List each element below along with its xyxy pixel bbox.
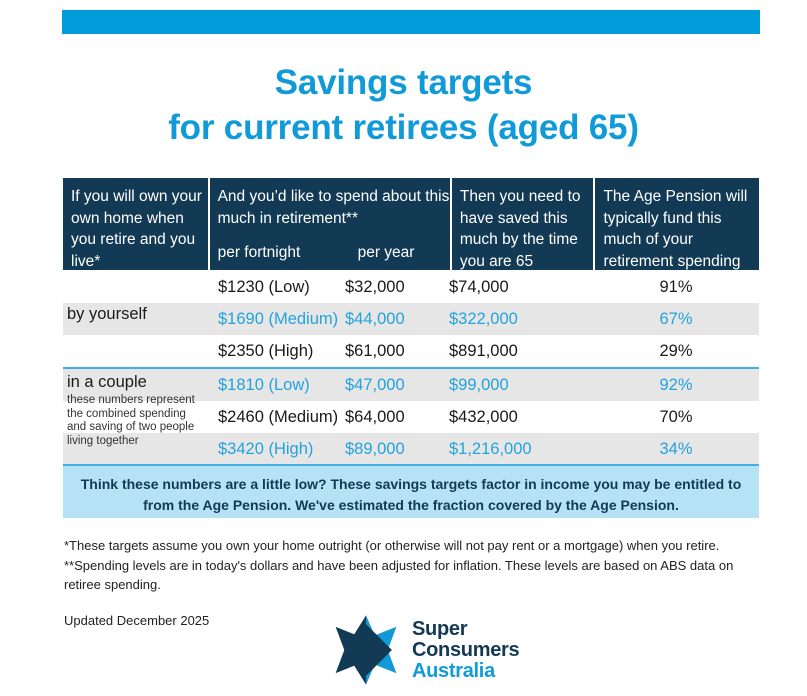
column-header-living-situation: If you will own your own home when you r… — [63, 178, 208, 270]
super-consumers-australia-logo: Super Consumers Australia — [330, 614, 519, 686]
logo-text-consumers: Consumers — [412, 640, 519, 661]
table-row: $1230 (Low) $32,000 $74,000 91% — [63, 271, 759, 303]
column-header-amount-saved: Then you need to have saved this much by… — [452, 178, 594, 270]
page-title-line1: Savings targets — [0, 60, 807, 105]
cell-per-fortnight: $2350 (High) — [210, 342, 345, 361]
age-pension-callout: Think these numbers are a little low? Th… — [63, 464, 759, 518]
cell-per-fortnight: $1810 (Low) — [210, 376, 345, 395]
cell-age-pension-share: 29% — [593, 342, 759, 361]
cell-per-fortnight: $1690 (Medium) — [210, 310, 345, 329]
footnote-spending-levels-cont: retiree spending. — [64, 575, 754, 595]
cell-per-year: $64,000 — [345, 408, 449, 427]
footnote-home-ownership: *These targets assume you own your home … — [64, 536, 754, 556]
cell-per-year: $32,000 — [345, 278, 449, 297]
cell-per-year: $47,000 — [345, 376, 449, 395]
logo-wordmark: Super Consumers Australia — [412, 619, 519, 682]
cell-per-year: $44,000 — [345, 310, 449, 329]
cell-per-fortnight: $2460 (Medium) — [210, 408, 345, 427]
cell-per-fortnight: $3420 (High) — [210, 440, 345, 459]
cell-amount-saved: $891,000 — [449, 342, 593, 361]
star-burst-logo-icon — [330, 614, 402, 686]
footnote-spending-levels: **Spending levels are in today's dollars… — [64, 556, 754, 576]
cell-amount-saved: $1,216,000 — [449, 440, 593, 459]
cell-age-pension-share: 67% — [593, 310, 759, 329]
group-label-in-a-couple: in a couple these numbers represent the … — [67, 372, 207, 448]
top-accent-bar — [62, 10, 760, 34]
group-label-note: these numbers represent the combined spe… — [67, 394, 207, 448]
updated-date: Updated December 2025 — [64, 613, 209, 628]
cell-per-year: $89,000 — [345, 440, 449, 459]
group-label-title: in a couple — [67, 372, 207, 392]
infographic-page: Savings targets for current retirees (ag… — [0, 0, 807, 696]
page-title-line2: for current retirees (aged 65) — [0, 105, 807, 150]
cell-age-pension-share: 91% — [593, 278, 759, 297]
column-header-age-pension: The Age Pension will typically fund this… — [595, 178, 759, 270]
cell-per-year: $61,000 — [345, 342, 449, 361]
footnotes: *These targets assume you own your home … — [64, 536, 754, 595]
logo-text-super: Super — [412, 619, 519, 640]
column-header-spending: And you’d like to spend about this much … — [210, 178, 450, 270]
column-header-spending-main: And you’d like to spend about this much … — [218, 188, 450, 227]
cell-age-pension-share: 92% — [593, 376, 759, 395]
cell-amount-saved: $322,000 — [449, 310, 593, 329]
callout-line1: Think these numbers are a little low? Th… — [63, 474, 759, 495]
table-header-row: If you will own your own home when you r… — [63, 178, 759, 270]
group-label-by-yourself: by yourself — [67, 305, 147, 324]
subheader-per-fortnight: per fortnight — [218, 242, 358, 264]
table-row: $1690 (Medium) $44,000 $322,000 67% — [63, 303, 759, 335]
cell-age-pension-share: 70% — [593, 408, 759, 427]
row-group-by-yourself: by yourself $1230 (Low) $32,000 $74,000 … — [63, 271, 759, 367]
callout-line2: from the Age Pension. We've estimated th… — [63, 495, 759, 516]
savings-targets-table: If you will own your own home when you r… — [63, 178, 759, 465]
row-group-in-a-couple: in a couple these numbers represent the … — [63, 367, 759, 465]
table-row: $2350 (High) $61,000 $891,000 29% — [63, 335, 759, 367]
subheader-per-year: per year — [358, 242, 443, 264]
page-title: Savings targets for current retirees (ag… — [0, 60, 807, 150]
table-body: by yourself $1230 (Low) $32,000 $74,000 … — [63, 271, 759, 465]
cell-amount-saved: $432,000 — [449, 408, 593, 427]
cell-amount-saved: $74,000 — [449, 278, 593, 297]
cell-age-pension-share: 34% — [593, 440, 759, 459]
cell-per-fortnight: $1230 (Low) — [210, 278, 345, 297]
column-subheaders: per fortnight per year — [218, 242, 443, 264]
logo-text-australia: Australia — [412, 661, 519, 682]
cell-amount-saved: $99,000 — [449, 376, 593, 395]
